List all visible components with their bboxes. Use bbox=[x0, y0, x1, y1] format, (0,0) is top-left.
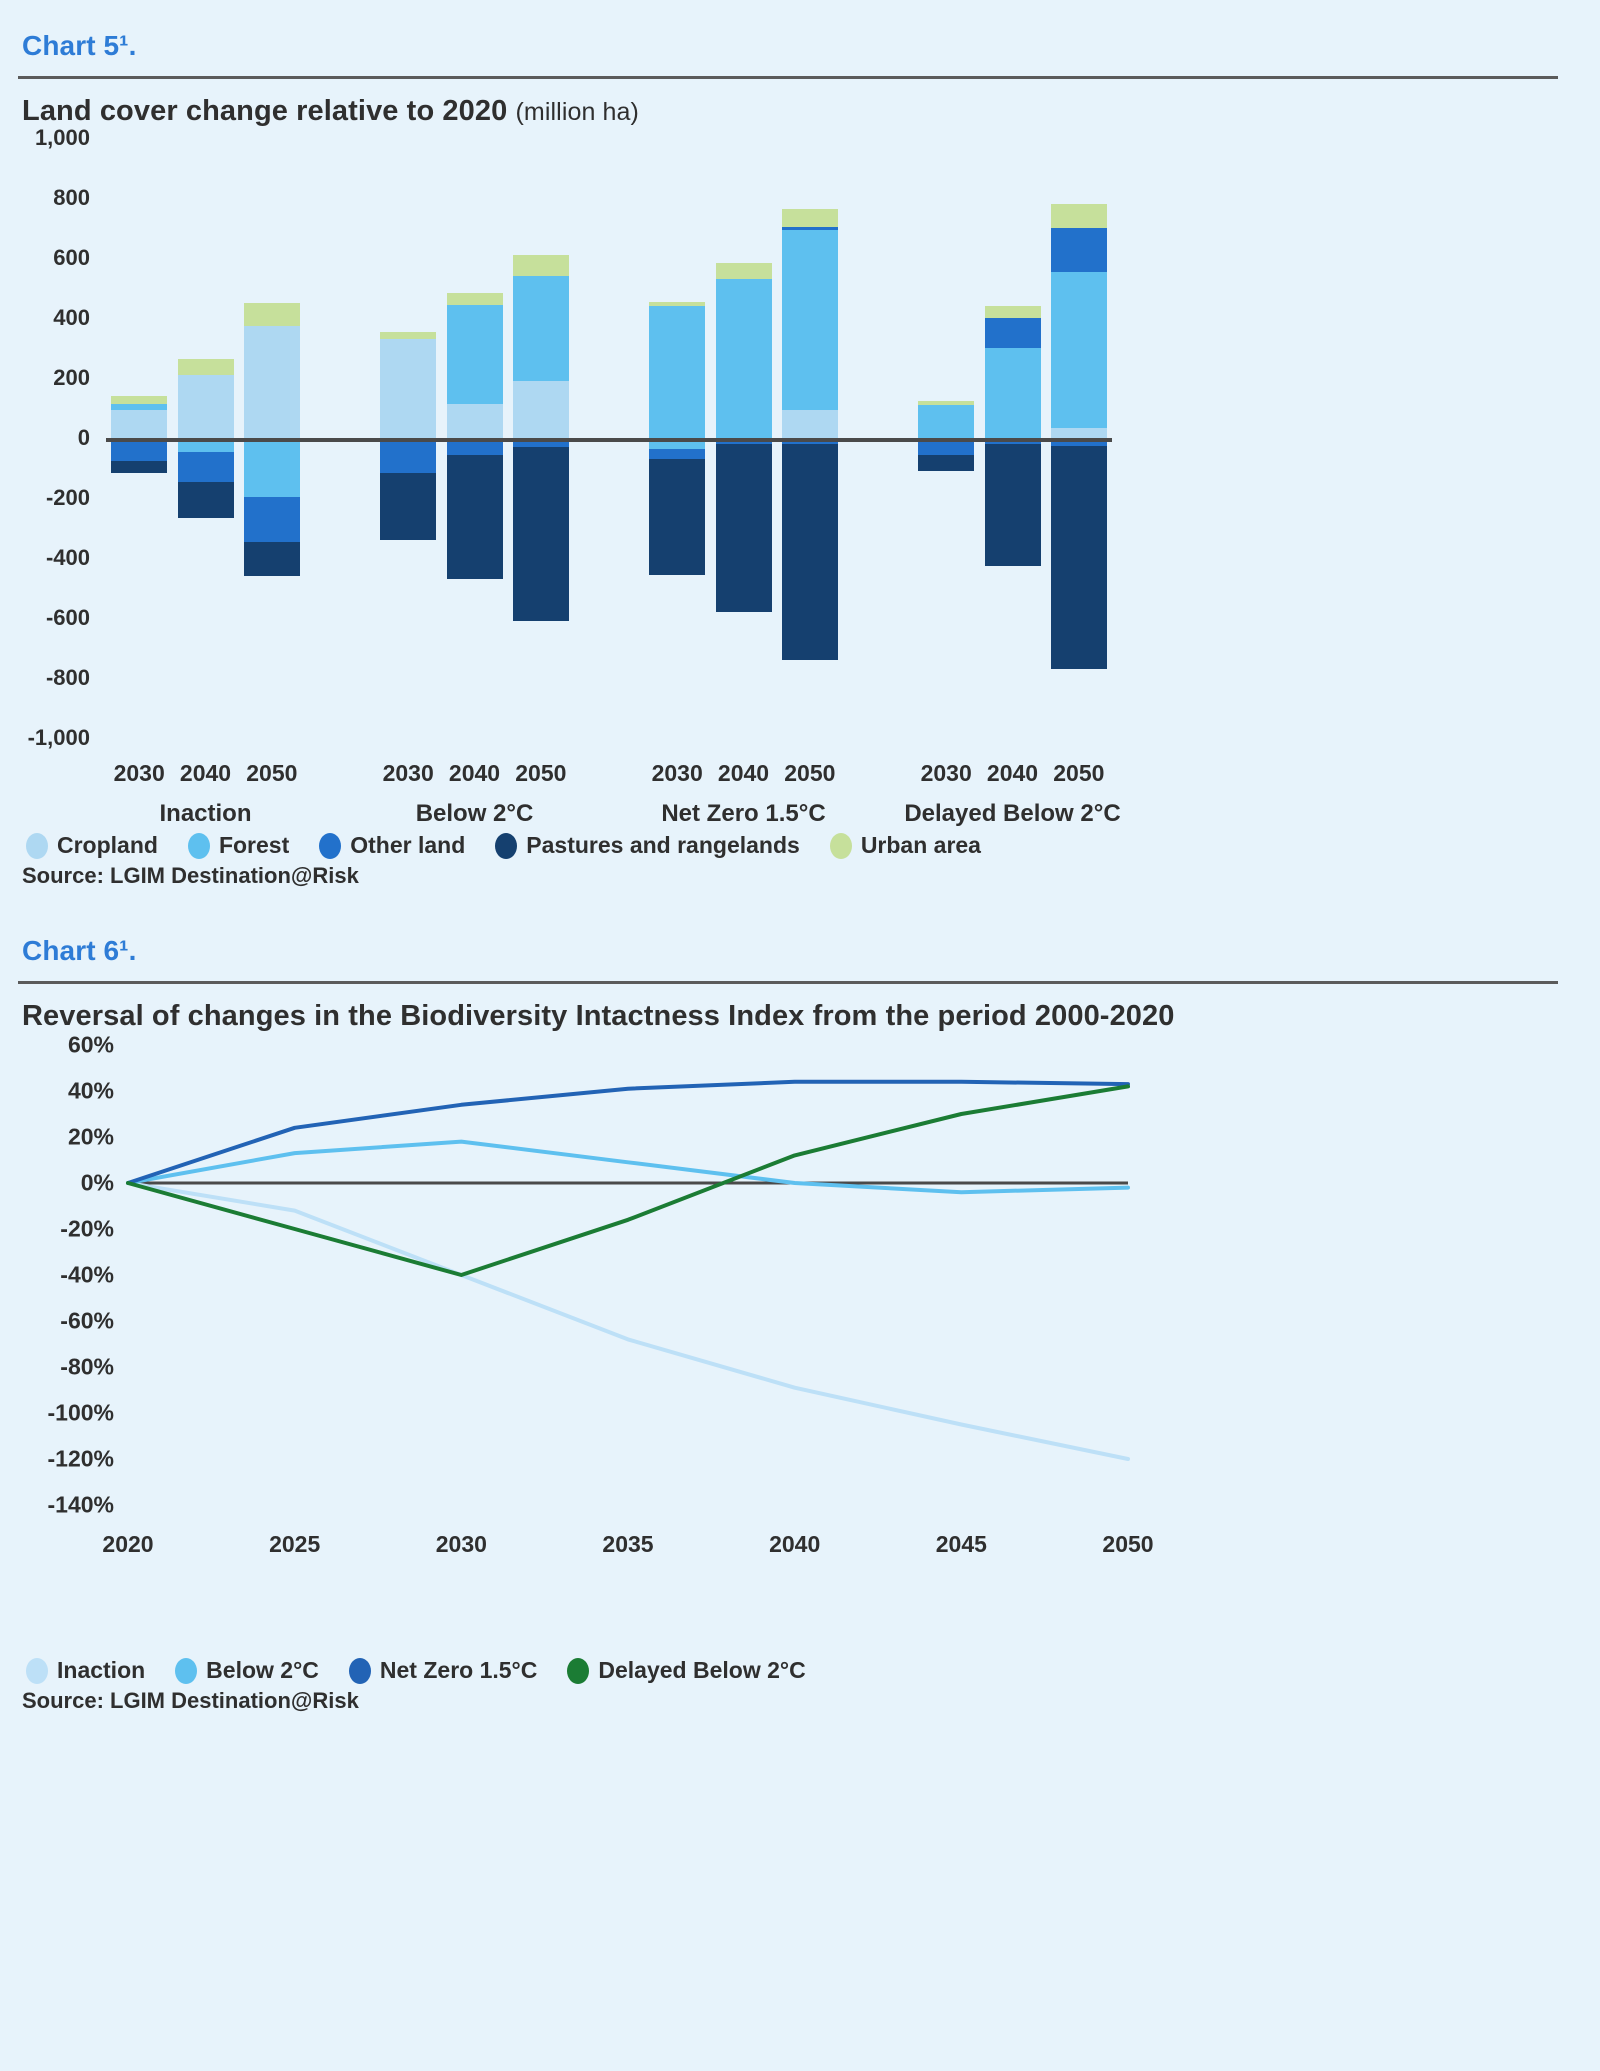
chart6-series-line[interactable] bbox=[128, 1142, 1128, 1193]
chart5-x-tick: 2030 bbox=[921, 760, 972, 787]
chart6-title: Reversal of changes in the Biodiversity … bbox=[18, 1000, 1560, 1033]
chart5-bar-segment[interactable] bbox=[244, 497, 300, 542]
chart5-legend: CroplandForestOther landPastures and ran… bbox=[18, 832, 1560, 859]
chart5-bar-segment[interactable] bbox=[985, 444, 1041, 566]
chart5-legend-item[interactable]: Other land bbox=[319, 832, 465, 859]
chart5-bar-segment[interactable] bbox=[513, 255, 569, 276]
chart5-legend-item[interactable]: Pastures and rangelands bbox=[495, 832, 800, 859]
chart5-group-label: Net Zero 1.5°C bbox=[661, 800, 825, 828]
chart5-x-tick: 2040 bbox=[718, 760, 769, 787]
chart5-bar-segment[interactable] bbox=[782, 209, 838, 227]
chart5-y-tick: 1,000 bbox=[0, 125, 90, 151]
chart5-bar-segment[interactable] bbox=[380, 473, 436, 541]
chart5-bar-segment[interactable] bbox=[985, 348, 1041, 438]
legend-swatch-icon bbox=[495, 833, 517, 859]
chart6-legend-item[interactable]: Inaction bbox=[26, 1657, 145, 1684]
chart5-bar-segment[interactable] bbox=[178, 482, 234, 518]
chart5-y-tick: -200 bbox=[0, 485, 90, 511]
chart5-bar-segment[interactable] bbox=[380, 438, 436, 473]
chart5-bar-segment[interactable] bbox=[447, 305, 503, 404]
chart5-x-tick: 2040 bbox=[449, 760, 500, 787]
chart5-y-tick: -600 bbox=[0, 605, 90, 631]
chart5-bar-segment[interactable] bbox=[649, 449, 705, 460]
chart5-bar-segment[interactable] bbox=[649, 306, 705, 438]
legend-label: Urban area bbox=[861, 832, 981, 859]
chart5-bar-segment[interactable] bbox=[111, 396, 167, 404]
chart5-bar-segment[interactable] bbox=[513, 381, 569, 438]
chart5-bar-segment[interactable] bbox=[918, 455, 974, 472]
chart5-title-text: Land cover change relative to 2020 bbox=[22, 95, 507, 127]
chart6-rule bbox=[18, 981, 1558, 984]
chart5-bar-segment[interactable] bbox=[782, 227, 838, 230]
chart6-block: Chart 6¹. Reversal of changes in the Bio… bbox=[0, 889, 1600, 1714]
chart5-y-tick: 600 bbox=[0, 245, 90, 271]
chart5-legend-item[interactable]: Urban area bbox=[830, 832, 981, 859]
chart5-title: Land cover change relative to 2020 (mill… bbox=[18, 95, 1560, 128]
chart5-title-unit: (million ha) bbox=[516, 98, 639, 126]
legend-label: Pastures and rangelands bbox=[526, 832, 800, 859]
chart6-legend: InactionBelow 2°CNet Zero 1.5°CDelayed B… bbox=[18, 1657, 1560, 1684]
chart5-bar-segment[interactable] bbox=[782, 444, 838, 660]
chart5-bar-segment[interactable] bbox=[111, 404, 167, 410]
chart6-series-line[interactable] bbox=[128, 1086, 1128, 1275]
chart5-bar-segment[interactable] bbox=[1051, 228, 1107, 272]
chart5-y-tick: -400 bbox=[0, 545, 90, 571]
chart5-bar-segment[interactable] bbox=[178, 375, 234, 438]
chart6-series-line[interactable] bbox=[128, 1082, 1128, 1183]
legend-label: Cropland bbox=[57, 832, 158, 859]
chart5-bar-segment[interactable] bbox=[716, 444, 772, 612]
chart5-bar-segment[interactable] bbox=[782, 230, 838, 410]
chart5-legend-item[interactable]: Cropland bbox=[26, 832, 158, 859]
chart5-bar-segment[interactable] bbox=[513, 447, 569, 621]
chart6-legend-item[interactable]: Below 2°C bbox=[175, 1657, 319, 1684]
page-root: Chart 5¹. Land cover change relative to … bbox=[0, 0, 1600, 2071]
legend-swatch-icon bbox=[188, 833, 210, 859]
chart5-bar-segment[interactable] bbox=[782, 410, 838, 439]
legend-label: Net Zero 1.5°C bbox=[380, 1657, 537, 1684]
chart5-bar-segment[interactable] bbox=[111, 461, 167, 473]
chart5-bar-segment[interactable] bbox=[1051, 204, 1107, 228]
chart5-bar-segment[interactable] bbox=[244, 542, 300, 577]
chart5-y-tick: 0 bbox=[0, 425, 90, 451]
chart5-group-label: Below 2°C bbox=[416, 800, 534, 828]
chart5-bar-segment[interactable] bbox=[1051, 446, 1107, 670]
chart5-zero-line-top bbox=[106, 438, 1112, 442]
chart5-group-label: Delayed Below 2°C bbox=[904, 800, 1120, 828]
legend-swatch-icon bbox=[175, 1658, 197, 1684]
chart5-x-tick: 2050 bbox=[784, 760, 835, 787]
chart5-bar-segment[interactable] bbox=[716, 263, 772, 280]
chart5-bar-segment[interactable] bbox=[985, 318, 1041, 348]
chart5-kicker: Chart 5¹. bbox=[18, 30, 1560, 62]
chart5-bar-segment[interactable] bbox=[447, 455, 503, 580]
chart6-kicker: Chart 6¹. bbox=[18, 935, 1560, 967]
chart5-x-tick: 2030 bbox=[114, 760, 165, 787]
chart5-legend-item[interactable]: Forest bbox=[188, 832, 289, 859]
legend-swatch-icon bbox=[830, 833, 852, 859]
chart5-rule bbox=[18, 76, 1558, 79]
chart5-block: Chart 5¹. Land cover change relative to … bbox=[0, 0, 1600, 889]
chart5-bar-segment[interactable] bbox=[380, 332, 436, 340]
chart5-y-tick: -1,000 bbox=[0, 725, 90, 751]
chart5-source: Source: LGIM Destination@Risk bbox=[18, 863, 1560, 889]
chart5-y-tick: -800 bbox=[0, 665, 90, 691]
chart6-plot-area: 60%40%20%0%-20%-40%-60%-80%-100%-120%-14… bbox=[18, 1033, 1558, 1653]
legend-swatch-icon bbox=[26, 833, 48, 859]
legend-label: Below 2°C bbox=[206, 1657, 319, 1684]
legend-swatch-icon bbox=[567, 1658, 589, 1684]
chart5-bar-segment[interactable] bbox=[1051, 272, 1107, 428]
legend-label: Forest bbox=[219, 832, 289, 859]
chart5-x-tick: 2050 bbox=[246, 760, 297, 787]
chart5-bar-segment[interactable] bbox=[918, 401, 974, 406]
chart5-group-label: Inaction bbox=[159, 800, 251, 828]
chart5-y-tick: 200 bbox=[0, 365, 90, 391]
chart6-legend-item[interactable]: Net Zero 1.5°C bbox=[349, 1657, 537, 1684]
chart5-plot-area: 1,0008006004002000-200-400-600-800-1,000… bbox=[18, 128, 1558, 828]
chart5-x-tick: 2040 bbox=[987, 760, 1038, 787]
chart5-bar-segment[interactable] bbox=[513, 276, 569, 381]
legend-label: Inaction bbox=[57, 1657, 145, 1684]
chart6-lines bbox=[18, 1033, 1558, 1593]
chart5-x-tick: 2030 bbox=[383, 760, 434, 787]
chart5-bar-segment[interactable] bbox=[244, 438, 300, 497]
chart5-y-tick: 400 bbox=[0, 305, 90, 331]
legend-swatch-icon bbox=[349, 1658, 371, 1684]
chart5-bar-segment[interactable] bbox=[447, 404, 503, 439]
chart5-x-tick: 2050 bbox=[1053, 760, 1104, 787]
chart5-bar-segment[interactable] bbox=[178, 359, 234, 376]
chart5-bar-segment[interactable] bbox=[111, 410, 167, 439]
chart5-x-tick: 2050 bbox=[515, 760, 566, 787]
chart5-bar-segment[interactable] bbox=[716, 279, 772, 438]
chart5-bar-segment[interactable] bbox=[1051, 428, 1107, 439]
chart5-bar-segment[interactable] bbox=[178, 452, 234, 482]
chart5-bar-segment[interactable] bbox=[649, 459, 705, 575]
chart5-bar-segment[interactable] bbox=[985, 306, 1041, 318]
legend-swatch-icon bbox=[319, 833, 341, 859]
chart5-bar-segment[interactable] bbox=[244, 326, 300, 439]
chart5-y-tick: 800 bbox=[0, 185, 90, 211]
legend-label: Other land bbox=[350, 832, 465, 859]
chart6-source: Source: LGIM Destination@Risk bbox=[18, 1688, 1560, 1714]
chart5-bar-segment[interactable] bbox=[447, 293, 503, 305]
chart5-bar-segment[interactable] bbox=[244, 303, 300, 326]
chart5-bar-segment[interactable] bbox=[380, 339, 436, 438]
legend-swatch-icon bbox=[26, 1658, 48, 1684]
chart6-legend-item[interactable]: Delayed Below 2°C bbox=[567, 1657, 805, 1684]
chart5-x-tick: 2030 bbox=[652, 760, 703, 787]
chart5-x-tick: 2040 bbox=[180, 760, 231, 787]
chart5-bar-segment[interactable] bbox=[918, 405, 974, 438]
chart5-bar-segment[interactable] bbox=[649, 302, 705, 307]
legend-label: Delayed Below 2°C bbox=[598, 1657, 805, 1684]
